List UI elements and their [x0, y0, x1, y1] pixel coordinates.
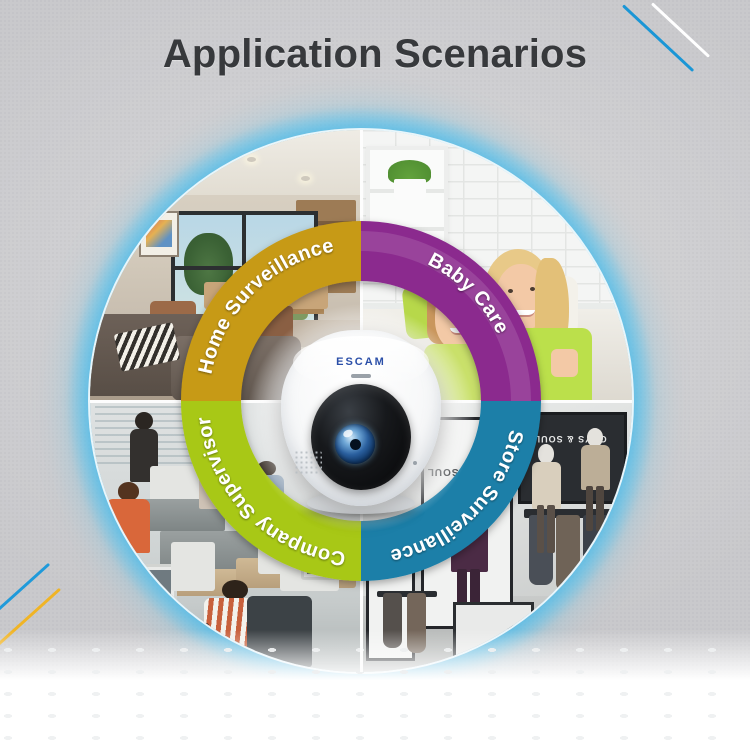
- camera-lens-pupil: [350, 439, 361, 450]
- camera-brand-logo: ESCAM: [281, 356, 441, 368]
- page-title: Application Scenarios: [0, 32, 750, 77]
- application-scenarios-poster: Application Scenarios: [0, 0, 750, 750]
- bottom-dot-pattern: [0, 642, 750, 750]
- camera-status-led: [351, 374, 371, 378]
- camera-speaker-grille: [294, 450, 322, 476]
- escam-panoramic-camera: ESCAM: [281, 322, 441, 518]
- camera-microphone: [413, 461, 417, 465]
